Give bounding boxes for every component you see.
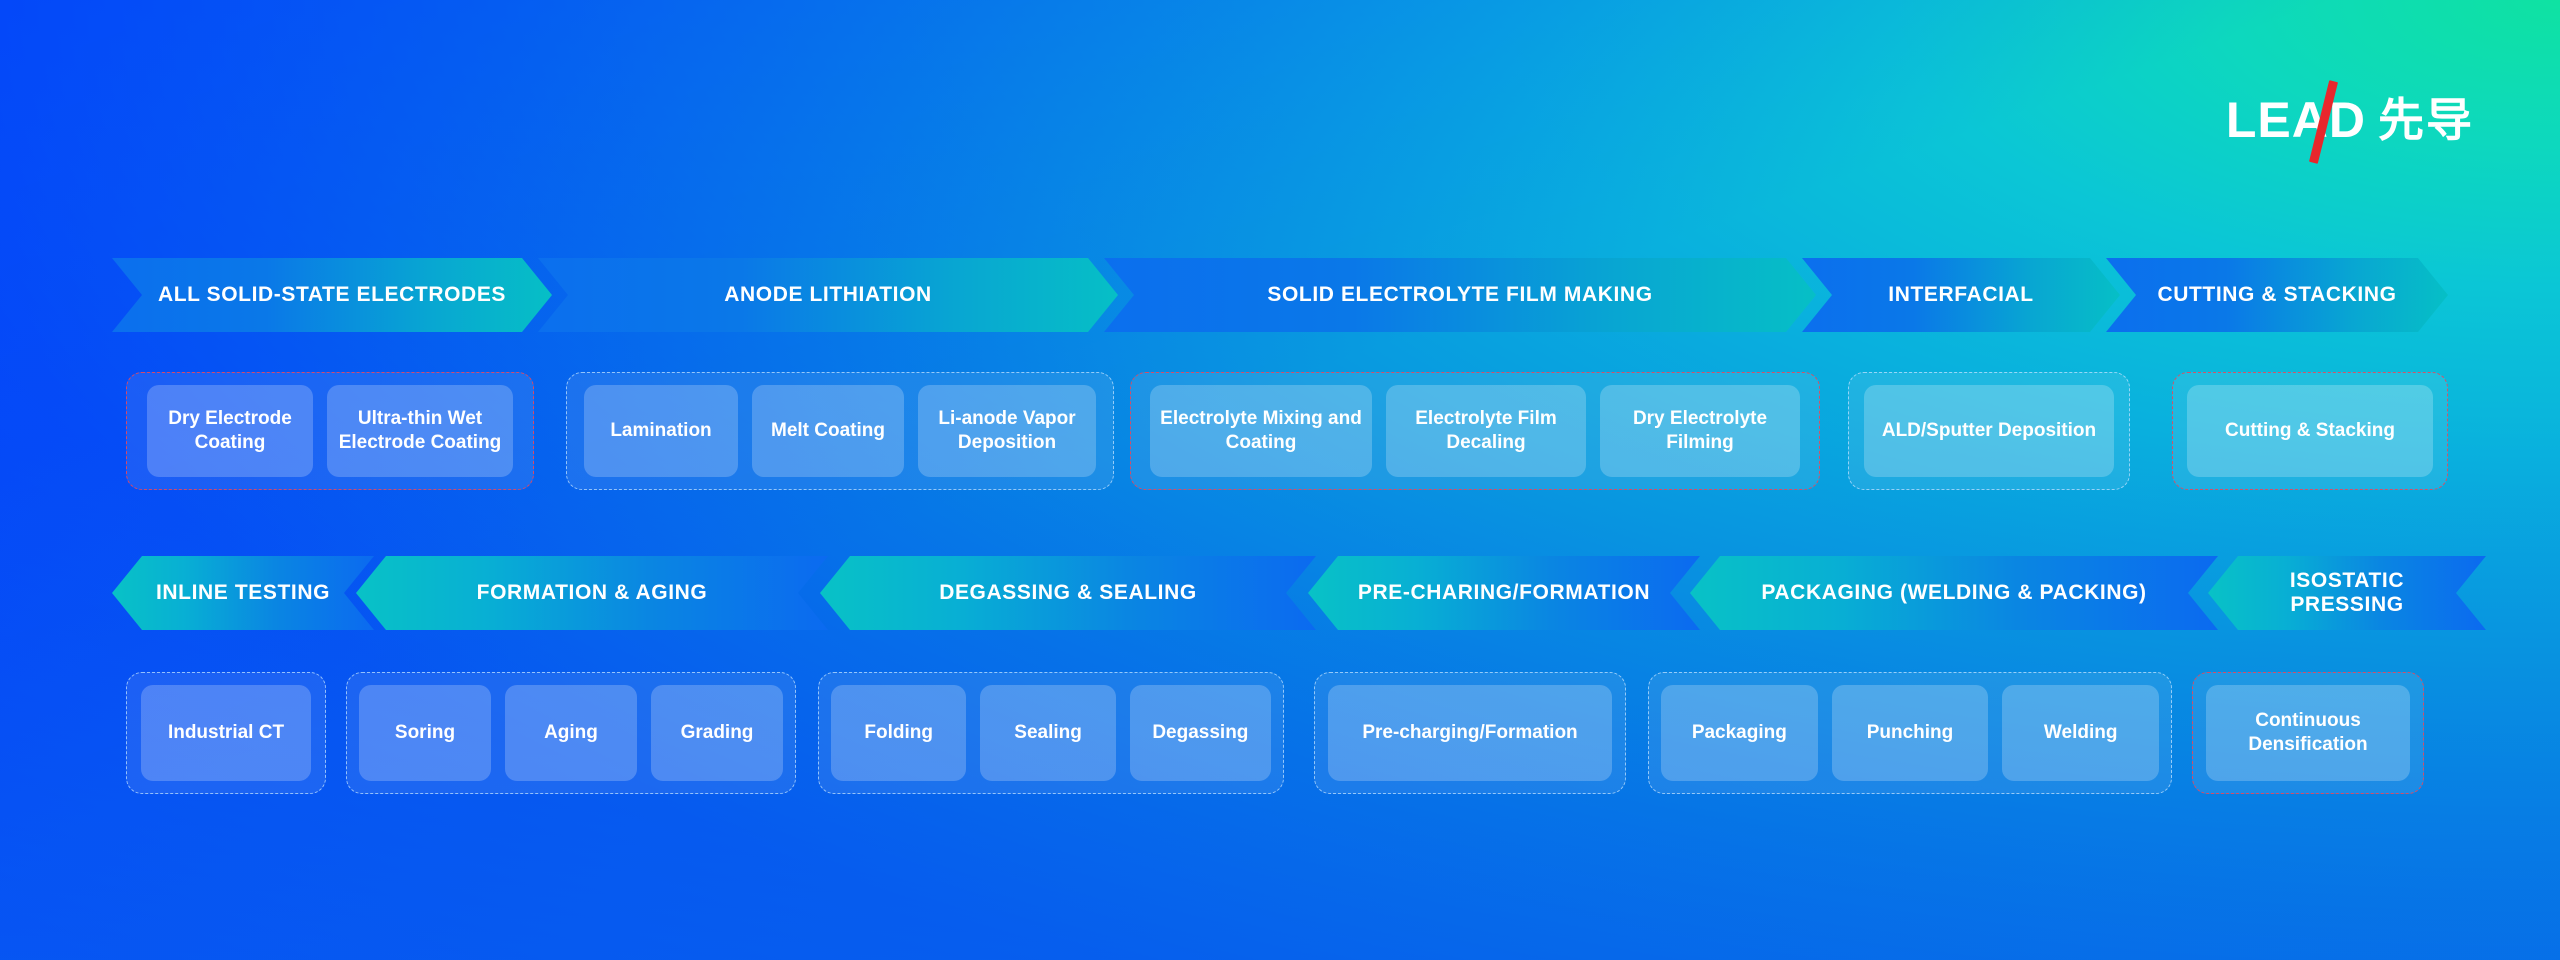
stage-banner-cutting-stacking[interactable]: CUTTING & STACKING xyxy=(2106,258,2448,332)
stage-banner-all-solid-state-electrodes[interactable]: ALL SOLID-STATE ELECTRODES xyxy=(112,258,552,332)
process-card-sealing[interactable]: Sealing xyxy=(980,685,1115,781)
stage-banner-packaging-welding-packing[interactable]: PACKAGING (WELDING & PACKING) xyxy=(1690,556,2218,630)
stage-banner-label: PACKAGING (WELDING & PACKING) xyxy=(1735,581,2172,605)
process-card-label: Grading xyxy=(681,721,754,745)
group-interfacial: ALD/Sputter Deposition xyxy=(1848,372,2130,490)
lead-logo: LEAD 先导 xyxy=(2226,92,2474,148)
stage-banner-label: INLINE TESTING xyxy=(130,581,356,605)
process-card-label: ALD/Sputter Deposition xyxy=(1882,419,2096,443)
process-card-label: Folding xyxy=(864,721,933,745)
process-card-label: Degassing xyxy=(1152,721,1248,745)
stage-banner-interfacial[interactable]: INTERFACIAL xyxy=(1802,258,2120,332)
process-card-label: Melt Coating xyxy=(771,419,885,443)
process-card-soring[interactable]: Soring xyxy=(359,685,491,781)
stage-banner-label: ISOSTATIC PRESSING xyxy=(2208,569,2486,616)
stage-banner-anode-lithiation[interactable]: ANODE LITHIATION xyxy=(538,258,1118,332)
stage-banner-row-bottom: INLINE TESTINGFORMATION & AGINGDEGASSING… xyxy=(0,556,2560,630)
process-card-industrial-ct[interactable]: Industrial CT xyxy=(141,685,311,781)
process-card-label: Dry Electrolyte Filming xyxy=(1610,407,1790,456)
process-card-label: Industrial CT xyxy=(168,721,284,745)
stage-banner-label: FORMATION & AGING xyxy=(451,581,734,605)
process-card-cutting-stacking[interactable]: Cutting & Stacking xyxy=(2187,385,2433,477)
process-card-label: Aging xyxy=(544,721,598,745)
process-card-aging[interactable]: Aging xyxy=(505,685,637,781)
group-anode-lithiation: LaminationMelt CoatingLi-anode Vapor Dep… xyxy=(566,372,1114,490)
process-card-packaging[interactable]: Packaging xyxy=(1661,685,1818,781)
process-card-label: Soring xyxy=(395,721,455,745)
group-formation-aging: SoringAgingGrading xyxy=(346,672,796,794)
process-card-ald-sputter-deposition[interactable]: ALD/Sputter Deposition xyxy=(1864,385,2114,477)
process-card-pre-charging-formation[interactable]: Pre-charging/Formation xyxy=(1328,685,1612,781)
stage-banner-label: SOLID ELECTROLYTE FILM MAKING xyxy=(1241,283,1678,307)
process-card-label: Pre-charging/Formation xyxy=(1362,721,1577,745)
process-card-li-anode-vapor-deposition[interactable]: Li-anode Vapor Deposition xyxy=(918,385,1096,477)
process-card-label: Dry Electrode Coating xyxy=(157,407,303,456)
stage-banner-pre-charing-formation[interactable]: PRE-CHARING/FORMATION xyxy=(1308,556,1700,630)
stage-banner-degassing-sealing[interactable]: DEGASSING & SEALING xyxy=(820,556,1316,630)
process-card-dry-electrode-coating[interactable]: Dry Electrode Coating xyxy=(147,385,313,477)
process-card-grading[interactable]: Grading xyxy=(651,685,783,781)
process-card-label: Packaging xyxy=(1692,721,1787,745)
process-card-melt-coating[interactable]: Melt Coating xyxy=(752,385,904,477)
stage-banner-formation-aging[interactable]: FORMATION & AGING xyxy=(356,556,828,630)
process-card-degassing[interactable]: Degassing xyxy=(1130,685,1271,781)
process-card-label: Lamination xyxy=(610,419,711,443)
process-card-lamination[interactable]: Lamination xyxy=(584,385,738,477)
process-card-welding[interactable]: Welding xyxy=(2002,685,2159,781)
process-card-ultra-thin-wet-electrode-coating[interactable]: Ultra-thin Wet Electrode Coating xyxy=(327,385,513,477)
group-packaging: PackagingPunchingWelding xyxy=(1648,672,2172,794)
group-inline-testing: Industrial CT xyxy=(126,672,326,794)
process-card-label: Punching xyxy=(1867,721,1954,745)
stage-banner-isostatic-pressing[interactable]: ISOSTATIC PRESSING xyxy=(2208,556,2486,630)
logo-wordmark: LEAD xyxy=(2226,93,2366,147)
stage-banner-row-top: ALL SOLID-STATE ELECTRODESANODE LITHIATI… xyxy=(0,258,2560,332)
process-card-label: Sealing xyxy=(1014,721,1082,745)
group-cutting-stacking: Cutting & Stacking xyxy=(2172,372,2448,490)
group-electrodes: Dry Electrode CoatingUltra-thin Wet Elec… xyxy=(126,372,534,490)
stage-banner-label: CUTTING & STACKING xyxy=(2131,283,2422,307)
process-flow-diagram: LEAD 先导 ALL SOLID-STATE ELECTRODESANODE … xyxy=(0,0,2560,960)
process-card-electrolyte-mixing-and-coating[interactable]: Electrolyte Mixing and Coating xyxy=(1150,385,1372,477)
stage-banner-label: PRE-CHARING/FORMATION xyxy=(1332,581,1676,605)
stage-banner-inline-testing[interactable]: INLINE TESTING xyxy=(112,556,374,630)
process-card-label: Cutting & Stacking xyxy=(2225,419,2395,443)
stage-banner-label: ALL SOLID-STATE ELECTRODES xyxy=(132,283,532,307)
stage-banner-label: INTERFACIAL xyxy=(1862,283,2059,307)
group-isostatic: Continuous Densification xyxy=(2192,672,2424,794)
stage-banner-label: DEGASSING & SEALING xyxy=(913,581,1223,605)
process-card-punching[interactable]: Punching xyxy=(1832,685,1989,781)
stage-banner-label: ANODE LITHIATION xyxy=(698,283,958,307)
process-card-label: Continuous Densification xyxy=(2216,709,2400,758)
logo-chinese-text: 先导 xyxy=(2378,97,2474,143)
stage-card-row-top: Dry Electrode CoatingUltra-thin Wet Elec… xyxy=(0,372,2560,490)
stage-card-row-bottom: Industrial CTSoringAgingGradingFoldingSe… xyxy=(0,672,2560,794)
logo-lead-text: LEAD xyxy=(2226,95,2366,145)
group-degassing-sealing: FoldingSealingDegassing xyxy=(818,672,1284,794)
process-card-label: Electrolyte Mixing and Coating xyxy=(1160,407,1362,456)
process-card-label: Welding xyxy=(2044,721,2118,745)
process-card-label: Li-anode Vapor Deposition xyxy=(928,407,1086,456)
process-card-folding[interactable]: Folding xyxy=(831,685,966,781)
process-card-label: Electrolyte Film Decaling xyxy=(1396,407,1576,456)
process-card-label: Ultra-thin Wet Electrode Coating xyxy=(337,407,503,456)
group-solid-electrolyte: Electrolyte Mixing and CoatingElectrolyt… xyxy=(1130,372,1820,490)
group-precharging: Pre-charging/Formation xyxy=(1314,672,1626,794)
process-card-continuous-densification[interactable]: Continuous Densification xyxy=(2206,685,2410,781)
process-card-dry-electrolyte-filming[interactable]: Dry Electrolyte Filming xyxy=(1600,385,1800,477)
stage-banner-solid-electrolyte-film-making[interactable]: SOLID ELECTROLYTE FILM MAKING xyxy=(1104,258,1816,332)
process-card-electrolyte-film-decaling[interactable]: Electrolyte Film Decaling xyxy=(1386,385,1586,477)
